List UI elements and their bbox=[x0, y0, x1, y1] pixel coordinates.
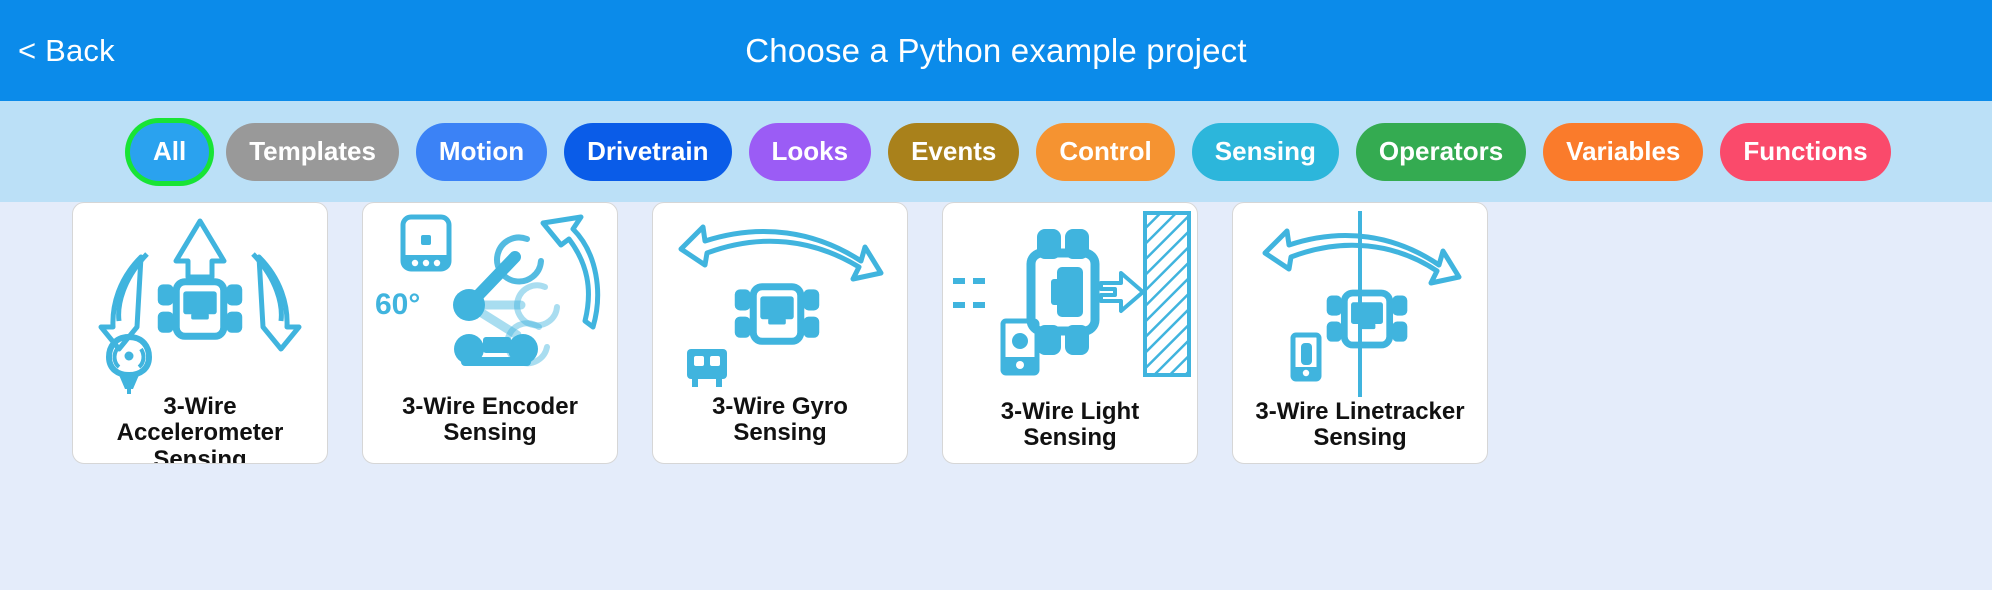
filter-chip-control[interactable]: Control bbox=[1036, 123, 1174, 181]
filter-chip-sensing[interactable]: Sensing bbox=[1192, 123, 1339, 181]
filter-chip-operators[interactable]: Operators bbox=[1356, 123, 1526, 181]
encoder-art: 60° bbox=[363, 203, 617, 394]
category-filter-bar: AllTemplatesMotionDrivetrainLooksEventsC… bbox=[0, 101, 1992, 202]
example-project-grid: 3-Wire Accelerometer Sensing 60° bbox=[0, 202, 1992, 590]
project-card[interactable]: 3-Wire Gyro Sensing bbox=[652, 202, 908, 464]
accelerometer-art bbox=[73, 203, 327, 394]
filter-chip-functions[interactable]: Functions bbox=[1720, 123, 1890, 181]
linetracker-art bbox=[1233, 203, 1487, 399]
project-card[interactable]: 3-Wire Accelerometer Sensing bbox=[72, 202, 328, 464]
project-card-title: 3-Wire Gyro Sensing bbox=[653, 394, 907, 464]
filter-chip-variables[interactable]: Variables bbox=[1543, 123, 1703, 181]
page-title: Choose a Python example project bbox=[0, 32, 1992, 70]
filter-chip-motion[interactable]: Motion bbox=[416, 123, 547, 181]
back-button[interactable]: < Back bbox=[18, 33, 115, 69]
light-art bbox=[943, 203, 1197, 399]
project-card-title: 3-Wire Linetracker Sensing bbox=[1233, 399, 1487, 464]
project-card[interactable]: 60° 3-Wire Encoder Sensing bbox=[362, 202, 618, 464]
svg-text:60°: 60° bbox=[375, 288, 420, 321]
app-header: < Back Choose a Python example project bbox=[0, 0, 1992, 101]
project-card-title: 3-Wire Light Sensing bbox=[943, 399, 1197, 464]
filter-chip-templates[interactable]: Templates bbox=[226, 123, 399, 181]
filter-chip-looks[interactable]: Looks bbox=[749, 123, 872, 181]
filter-chip-events[interactable]: Events bbox=[888, 123, 1019, 181]
filter-chip-all[interactable]: All bbox=[130, 123, 209, 181]
project-card[interactable]: 3-Wire Linetracker Sensing bbox=[1232, 202, 1488, 464]
filter-chip-drivetrain[interactable]: Drivetrain bbox=[564, 123, 731, 181]
project-card[interactable]: 3-Wire Light Sensing bbox=[942, 202, 1198, 464]
project-card-title: 3-Wire Accelerometer Sensing bbox=[73, 394, 327, 464]
gyro-art bbox=[653, 203, 907, 394]
project-card-title: 3-Wire Encoder Sensing bbox=[363, 394, 617, 464]
